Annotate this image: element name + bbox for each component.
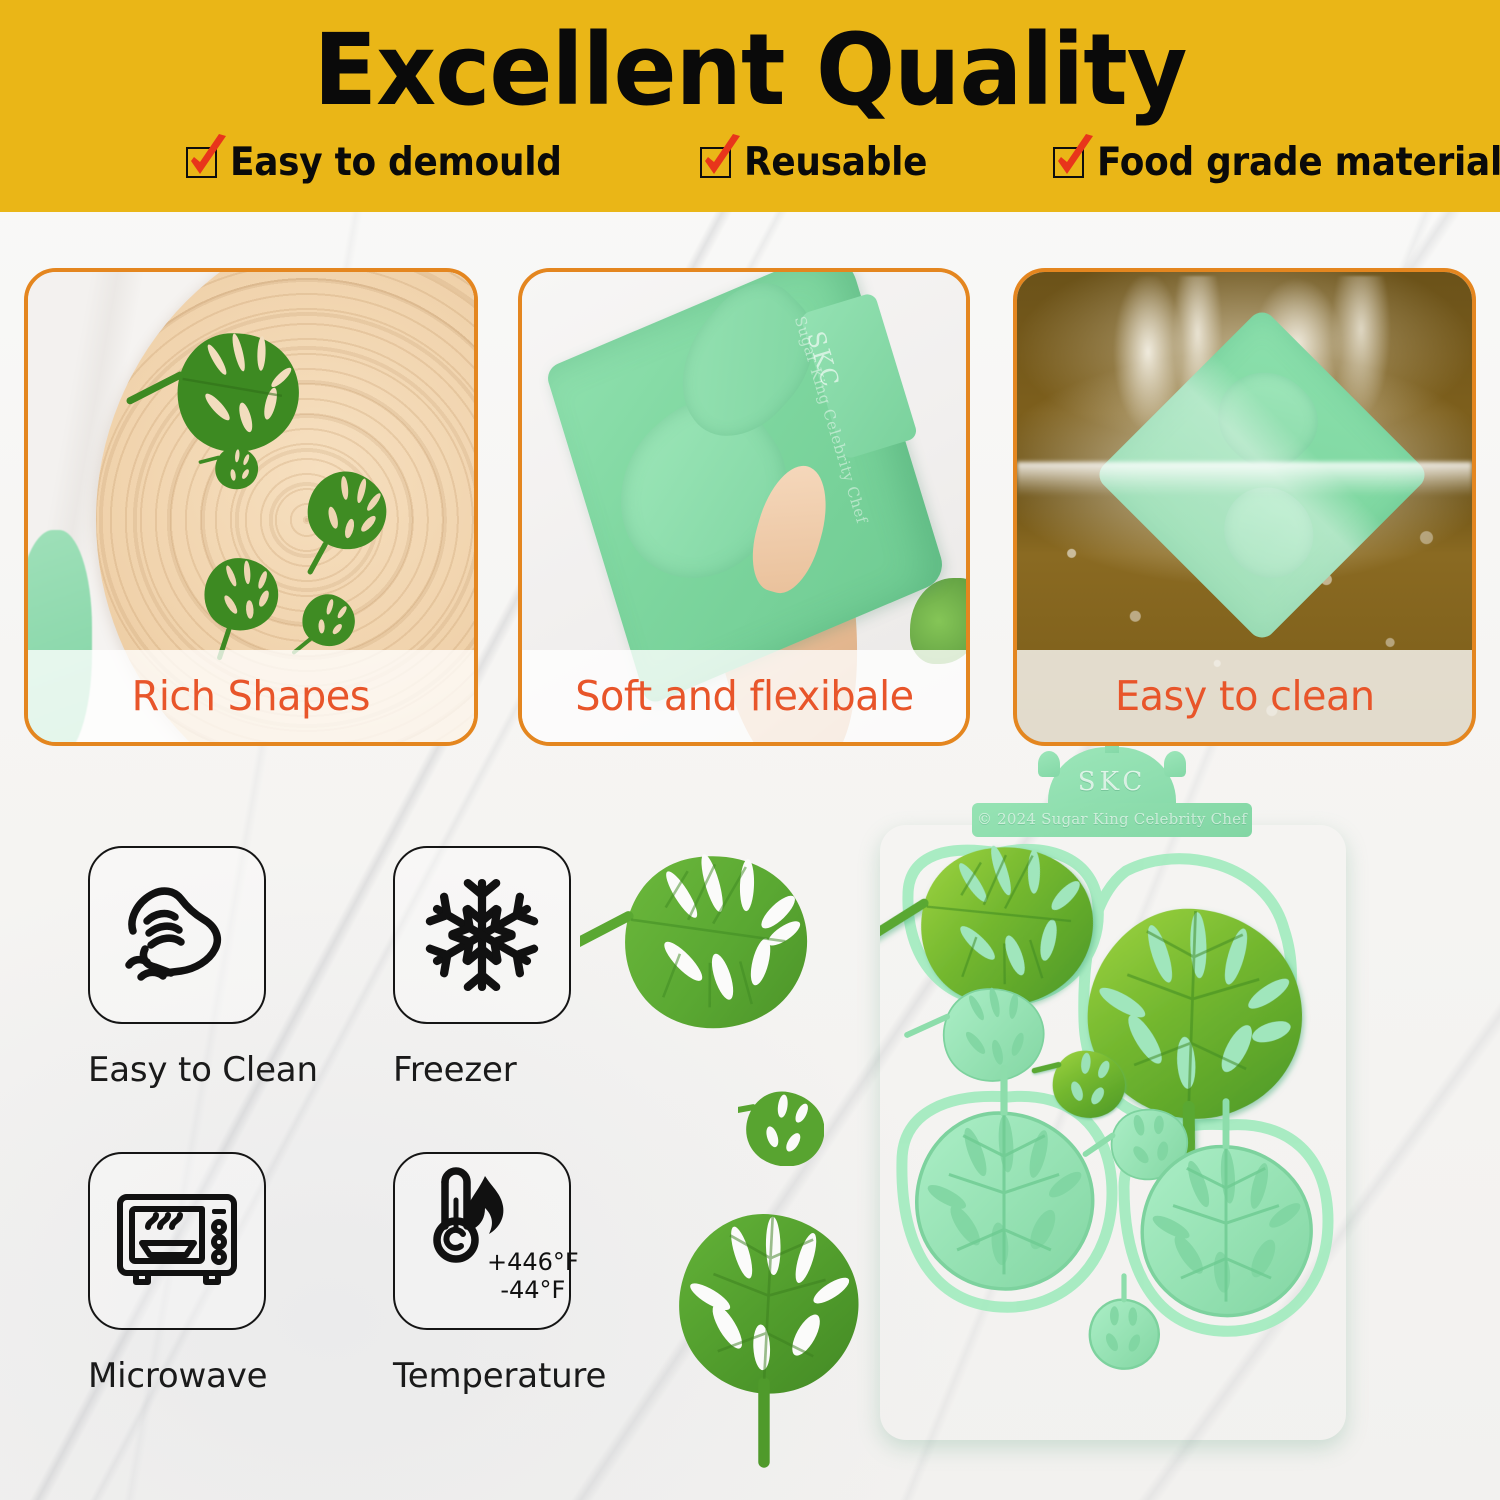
photo-panel-soft-flexible: SKC Sugar King Celebrity Chef Soft and f…	[518, 268, 970, 746]
page-title: Excellent Quality	[45, 16, 1455, 127]
checkbox-checked-icon	[186, 147, 217, 178]
panel-caption-text: Easy to clean	[1115, 672, 1375, 720]
feature-freezer: Freezer	[393, 846, 698, 1090]
feature-row: Microwave +446°F -44°F	[88, 1152, 698, 1396]
temperature-high: +446°F	[487, 1248, 579, 1276]
header-feature-item: Food grade material	[1053, 140, 1500, 185]
header-feature-label: Food grade material	[1097, 140, 1500, 185]
panel-caption-text: Rich Shapes	[132, 672, 370, 720]
header-feature-item: Easy to demould	[186, 140, 591, 185]
header-feature-item: Reusable	[700, 140, 943, 185]
feature-microwave: Microwave	[88, 1152, 393, 1396]
feature-temperature: +446°F -44°F Temperature	[393, 1152, 698, 1396]
hand-wiping-cloth-icon	[88, 846, 266, 1024]
mold-brand-label: SKC	[1048, 767, 1176, 797]
header-feature-list: Easy to demould Reusable Food grade mate…	[0, 140, 1500, 185]
header-banner: Excellent Quality Easy to demould Reusab…	[0, 0, 1500, 212]
temperature-range: +446°F -44°F	[487, 1248, 579, 1305]
feature-easy-to-clean: Easy to Clean	[88, 846, 393, 1090]
panel-caption: Easy to clean	[1017, 650, 1472, 742]
feature-label: Microwave	[88, 1356, 393, 1396]
demoulded-leaf-tiny	[738, 1090, 824, 1166]
snowflake-icon	[393, 846, 571, 1024]
feature-icon-grid: Easy to Clean	[88, 846, 698, 1396]
feature-label: Temperature	[393, 1356, 698, 1396]
temperature-low: -44°F	[487, 1276, 579, 1304]
feature-label: Easy to Clean	[88, 1050, 393, 1090]
header-feature-label: Reusable	[744, 140, 927, 185]
panel-caption-text: Soft and flexibale	[575, 672, 913, 720]
panel-caption: Rich Shapes	[28, 650, 474, 742]
checkbox-checked-icon	[700, 147, 731, 178]
microwave-oven-icon	[88, 1152, 266, 1330]
feature-row: Easy to Clean	[88, 846, 698, 1090]
photo-panel-easy-clean: Easy to clean	[1013, 268, 1476, 746]
checkbox-checked-icon	[1053, 147, 1084, 178]
header-feature-label: Easy to demould	[230, 140, 562, 185]
photo-panel-row: Rich Shapes SKC Sugar King Celebrity Che…	[0, 268, 1500, 748]
panel-caption: Soft and flexibale	[522, 650, 966, 742]
silicone-mold-tray: SKC © 2024 Sugar King Celebrity Chef	[880, 825, 1346, 1440]
feature-label: Freezer	[393, 1050, 698, 1090]
photo-panel-rich-shapes: Rich Shapes	[24, 268, 478, 746]
thermometer-flame-icon: +446°F -44°F	[393, 1152, 571, 1330]
